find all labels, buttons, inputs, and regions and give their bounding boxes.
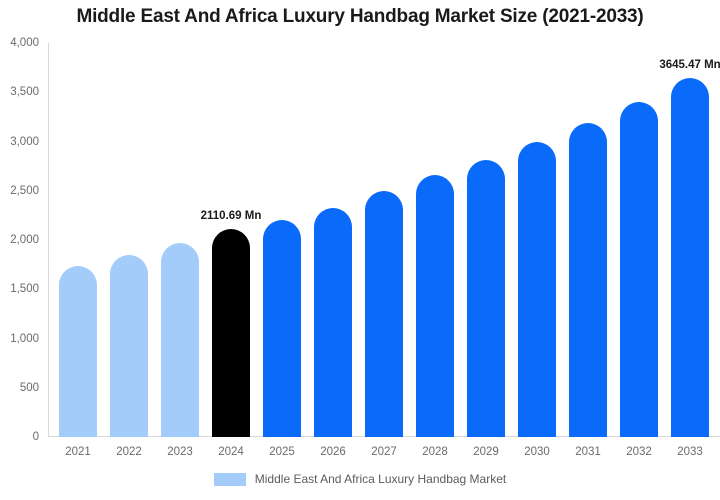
bar-2031[interactable] xyxy=(569,123,607,437)
bar-group xyxy=(212,43,250,437)
bar-group xyxy=(620,43,658,437)
x-axis-tick-2026: 2026 xyxy=(308,446,358,458)
chart-title: Middle East And Africa Luxury Handbag Ma… xyxy=(0,6,720,28)
x-axis-tick-2030: 2030 xyxy=(512,446,562,458)
bar-2022[interactable] xyxy=(110,255,148,437)
bar-2032[interactable] xyxy=(620,102,658,437)
x-axis-tick-2033: 2033 xyxy=(665,446,715,458)
y-axis-tick: 3,000 xyxy=(0,136,39,148)
x-axis-tick-2028: 2028 xyxy=(410,446,460,458)
bar-2025[interactable] xyxy=(263,220,301,437)
bar-2033[interactable] xyxy=(671,78,709,437)
bar-value-label-2033: 3645.47 Mn xyxy=(640,59,720,71)
bar-2029[interactable] xyxy=(467,160,505,437)
bar-2024[interactable] xyxy=(212,229,250,437)
y-axis-tick: 1,500 xyxy=(0,283,39,295)
y-axis-tick: 500 xyxy=(0,382,39,394)
bar-group xyxy=(365,43,403,437)
x-axis-tick-2027: 2027 xyxy=(359,446,409,458)
bar-group xyxy=(671,43,709,437)
bar-2027[interactable] xyxy=(365,191,403,437)
bars-layer xyxy=(48,43,720,437)
bar-group xyxy=(263,43,301,437)
x-axis-tick-2024: 2024 xyxy=(206,446,256,458)
chart-legend: Middle East And Africa Luxury Handbag Ma… xyxy=(0,472,720,486)
bar-2021[interactable] xyxy=(59,266,97,437)
bar-2028[interactable] xyxy=(416,175,454,437)
bar-group xyxy=(59,43,97,437)
y-axis-tick: 4,000 xyxy=(0,37,39,49)
x-axis-tick-2025: 2025 xyxy=(257,446,307,458)
y-axis-tick: 1,000 xyxy=(0,333,39,345)
x-axis-tick-2022: 2022 xyxy=(104,446,154,458)
bar-group xyxy=(110,43,148,437)
x-axis-tick-2032: 2032 xyxy=(614,446,664,458)
bar-group xyxy=(518,43,556,437)
y-axis-tick: 3,500 xyxy=(0,86,39,98)
bar-group xyxy=(161,43,199,437)
legend-label: Middle East And Africa Luxury Handbag Ma… xyxy=(255,472,506,486)
bar-2023[interactable] xyxy=(161,243,199,437)
x-axis-tick-2023: 2023 xyxy=(155,446,205,458)
y-axis-tick: 2,000 xyxy=(0,234,39,246)
bar-group xyxy=(467,43,505,437)
bar-group xyxy=(416,43,454,437)
bar-value-label-2024: 2110.69 Mn xyxy=(181,210,281,222)
y-axis-tick: 2,500 xyxy=(0,185,39,197)
x-axis-tick-2029: 2029 xyxy=(461,446,511,458)
plot-area xyxy=(48,43,720,437)
x-axis-tick-2021: 2021 xyxy=(53,446,103,458)
chart-container: Middle East And Africa Luxury Handbag Ma… xyxy=(0,0,720,500)
bar-2030[interactable] xyxy=(518,142,556,438)
bar-group xyxy=(314,43,352,437)
legend-swatch xyxy=(214,473,246,486)
bar-group xyxy=(569,43,607,437)
x-axis-tick-2031: 2031 xyxy=(563,446,613,458)
y-axis-tick: 0 xyxy=(0,431,39,443)
bar-2026[interactable] xyxy=(314,208,352,437)
